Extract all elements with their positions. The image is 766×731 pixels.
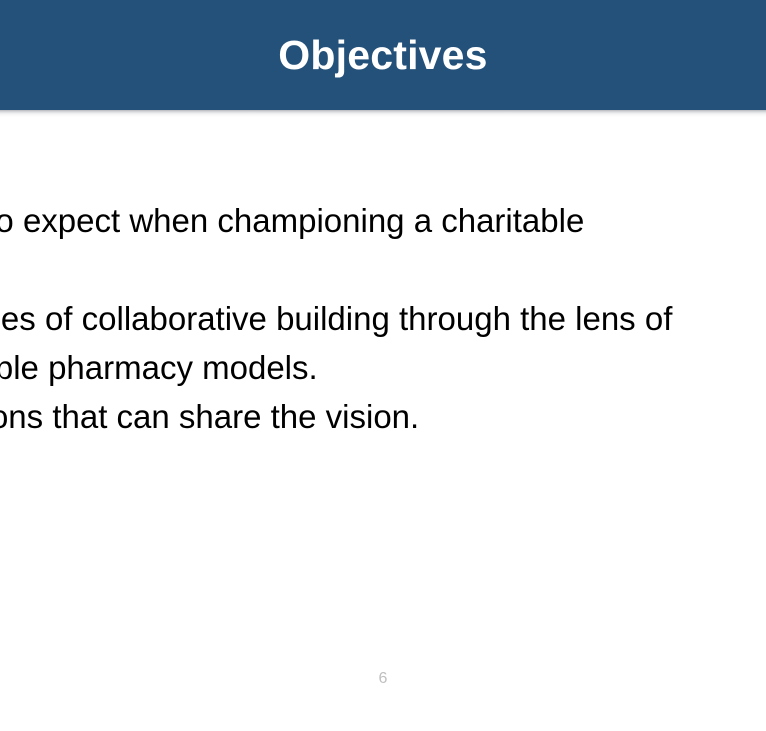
title-banner-shadow <box>0 110 766 117</box>
body-line-3: Review processes of collaborative buildi… <box>0 294 766 343</box>
slide-viewport: Objectives Describe what to expect when … <box>0 0 766 731</box>
page-title: Objectives <box>0 0 766 110</box>
body-line-2: pharmacy. <box>0 245 766 294</box>
slide-body-text: Describe what to expect when championing… <box>0 196 766 441</box>
body-line-4: different charitable pharmacy models. <box>0 343 766 392</box>
page-number: 6 <box>0 668 766 690</box>
body-line-5: Identify champions that can share the vi… <box>0 392 766 441</box>
body-line-1: Describe what to expect when championing… <box>0 196 766 245</box>
